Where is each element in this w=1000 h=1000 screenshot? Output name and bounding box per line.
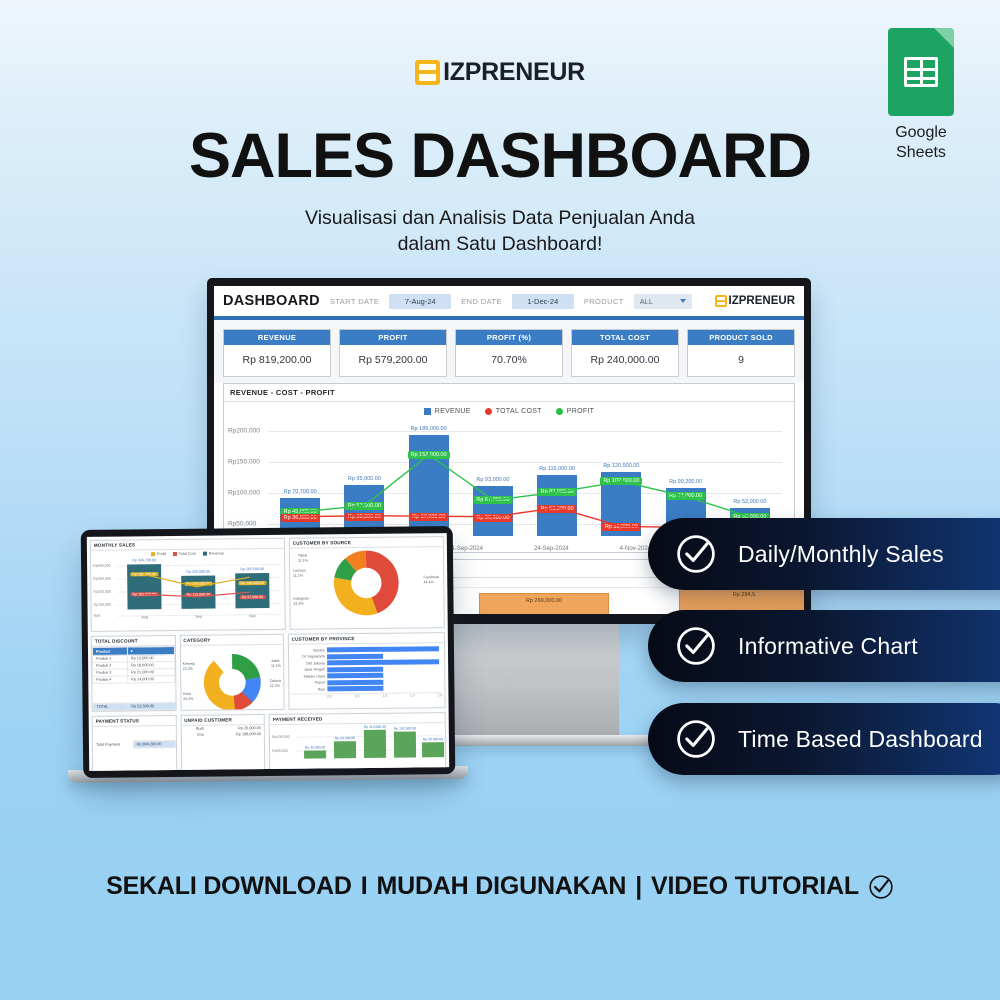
slice-label-kemeja: Kemeja22.2% bbox=[183, 662, 195, 671]
table-total-row: TOTALRp 52,500.00 bbox=[93, 702, 175, 710]
slice-label-kaos: Kaos44.4% bbox=[183, 692, 193, 701]
kpi-label: PRODUCT SOLD bbox=[688, 330, 794, 345]
profit-value-label: Rp 74,000.00 bbox=[666, 492, 705, 500]
slice-label-tiktok: Tiktok11.1% bbox=[298, 554, 308, 563]
banner-part-1: SEKALI DOWNLOAD bbox=[106, 872, 352, 901]
bar: Rp 93,000.00Rp 67,000.00Rp 36,000.00 bbox=[473, 486, 513, 536]
bar-value-label: Rp 52,000.00 bbox=[733, 499, 766, 505]
payment-status-panel: PAYMENT STATUS Total Payment Rp 894,200.… bbox=[92, 715, 177, 771]
kpi-card-profit: PROFIT Rp 579,200.00 bbox=[339, 329, 447, 377]
feature-label: Daily/Monthly Sales bbox=[738, 541, 944, 568]
bar: Rp 120,500.00Rp 102,000.00Rp 18,000.00 bbox=[601, 472, 641, 536]
end-date-input[interactable]: 1-Dec-24 bbox=[512, 294, 574, 309]
y-tick: Rp300,000 bbox=[93, 577, 111, 581]
slice-label-celana: Jaket11.1% bbox=[271, 659, 281, 668]
banner-separator-2: | bbox=[635, 872, 642, 901]
kpi-value: Rp 240,000.00 bbox=[572, 345, 678, 376]
bar-row: Banten bbox=[291, 646, 442, 653]
cost-value-label: Rp 38,000.00 bbox=[345, 513, 384, 521]
circle-check-icon bbox=[674, 624, 718, 668]
profit-value-label: Rp 57,000.00 bbox=[345, 502, 384, 510]
slice-label-facebook: Facebook44.4% bbox=[423, 575, 439, 585]
table-row: Ima Rp 188,000.00 bbox=[181, 731, 264, 738]
payment-received-panel: PAYMENT RECEIVED Rp100,000 Rp50,000 Rp 3… bbox=[269, 712, 446, 770]
legend-item-total-cost: TOTAL COST bbox=[485, 408, 542, 415]
customer-by-province-chart: Banten DI Yogyakarta DKI Jakarta Jawa Te… bbox=[289, 643, 445, 698]
legend-item-revenue: REVENUE bbox=[424, 408, 471, 415]
sheet-grid-glyph bbox=[904, 57, 938, 87]
legend-item-total-cost: Total Cost bbox=[173, 552, 196, 556]
banner-part-2: MUDAH DIGUNAKAN bbox=[376, 872, 626, 901]
kpi-value: 70.70% bbox=[456, 345, 562, 376]
laptop-device: MONTHLY SALES Profit Total Cost Revenue … bbox=[81, 526, 456, 778]
payment-received-chart: Rp100,000 Rp50,000 Rp 30,000.00 Rp 64,50… bbox=[270, 723, 445, 765]
kpi-value: Rp 819,200.00 bbox=[224, 345, 330, 376]
start-date-input[interactable]: 7-Aug-24 bbox=[389, 294, 451, 309]
monthly-sales-panel: MONTHLY SALES Profit Total Cost Revenue … bbox=[90, 538, 286, 632]
circle-check-icon bbox=[674, 532, 718, 576]
y-tick: Rp200,000 bbox=[93, 590, 111, 594]
customer-by-province-panel: CUSTOMER BY PROVINCE Banten DI Yogyakart… bbox=[288, 632, 446, 710]
feature-pill-daily-monthly-sales[interactable]: Daily/Monthly Sales bbox=[648, 518, 1000, 590]
page-subtitle: Visualisasi dan Analisis Data Penjualan … bbox=[0, 205, 1000, 258]
legend-item-profit: Profit bbox=[151, 552, 166, 556]
profit-value-label: Rp 82,000.00 bbox=[538, 488, 577, 496]
bar-value-label: Rp 70,700.00 bbox=[284, 489, 317, 495]
bar-row: Riau bbox=[291, 685, 442, 692]
bizpreneur-logo: IZPRENEUR bbox=[0, 58, 1000, 87]
legend-item-revenue: Revenue bbox=[203, 551, 224, 555]
bar-value-label: Rp 189,000.00 bbox=[411, 426, 447, 432]
x-axis: 0.0 0.5 1.0 1.5 2.0 bbox=[291, 692, 442, 699]
end-date-label: END DATE bbox=[461, 297, 502, 306]
sales-person-bar: Rp 269,000.00 bbox=[479, 593, 609, 614]
profit-value-label: Rp 67,000.00 bbox=[473, 496, 512, 504]
google-sheets-icon bbox=[888, 28, 954, 116]
bar-aug: Rp 345,700.00 Rp 182,000.00 Rp 103,000.0… bbox=[127, 564, 161, 609]
bar-row: DKI Jakarta bbox=[291, 659, 442, 666]
bizpreneur-logo-text: IZPRENEUR bbox=[443, 58, 585, 87]
kpi-value: Rp 579,200.00 bbox=[340, 345, 446, 376]
bar-row: DI Yogyakarta bbox=[291, 653, 442, 660]
bar-sep: Rp 255,000.00 Rp 140,000.00 Rp 115,000.0… bbox=[181, 576, 215, 609]
bar: Rp 189,000.00Rp 152,000.00Rp 37,000.00 bbox=[409, 435, 449, 536]
bar-value-label: Rp 115,000.00 bbox=[539, 466, 575, 472]
kpi-value: 9 bbox=[688, 345, 794, 376]
y-tick: Rp0 bbox=[94, 614, 101, 618]
cost-value-label: Rp 18,000.00 bbox=[602, 523, 641, 531]
customer-by-source-panel: CUSTOMER BY SOURCE Facebook44.4% Instagr… bbox=[289, 536, 445, 630]
y-tick: Rp150,000 bbox=[228, 459, 260, 466]
feature-label: Time Based Dashboard bbox=[738, 726, 983, 753]
feature-pill-informative-chart[interactable]: Informative Chart bbox=[648, 610, 1000, 682]
kpi-card-total-cost: TOTAL COST Rp 240,000.00 bbox=[571, 329, 679, 377]
cost-value-label: Rp 36,000.00 bbox=[473, 514, 512, 522]
x-tick: 24-Sep-2024 bbox=[534, 546, 569, 552]
y-tick: Rp100,000 bbox=[228, 490, 260, 497]
bar-nov: Rp 265,500.00 Rp 168,000.00 Rp 97,000.00 bbox=[235, 573, 269, 608]
category-panel: CATEGORY Kemeja22.2% Jaket11.1% Celana22… bbox=[179, 634, 284, 711]
y-tick: Rp200,000 bbox=[228, 428, 260, 435]
bar-value-label: Rp 120,500.00 bbox=[603, 463, 639, 469]
kpi-label: TOTAL COST bbox=[572, 330, 678, 345]
page-title: SALES DASHBOARD bbox=[0, 120, 1000, 192]
x-tick: Aug bbox=[141, 615, 148, 619]
x-tick: 1-Sep-2024 bbox=[452, 546, 483, 552]
page-fold bbox=[934, 28, 954, 48]
customer-by-source-chart: Facebook44.4% Instagram33.3% Lainnya11.1… bbox=[290, 547, 444, 619]
y-tick: Rp100,000 bbox=[272, 735, 290, 739]
bizpreneur-b-mark bbox=[415, 60, 440, 85]
bottom-banner: SEKALI DOWNLOAD I MUDAH DIGUNAKAN | VIDE… bbox=[0, 872, 1000, 901]
payment-bar: Rp 30,000.00 bbox=[304, 750, 326, 758]
bar-row: Jawa Tengah bbox=[291, 666, 442, 673]
product-label: PRODUCT bbox=[584, 297, 624, 306]
monthly-sales-chart: Rp400,000 Rp300,000 Rp200,000 Rp100,000 … bbox=[91, 556, 285, 620]
slice-label-jaket: Celana22.2% bbox=[270, 679, 281, 688]
product-select[interactable]: ALL bbox=[634, 294, 692, 309]
start-date-label: START DATE bbox=[330, 297, 379, 306]
payment-status-table: Total Payment Rp 894,200.00 bbox=[93, 740, 176, 749]
bizpreneur-b-mark-small bbox=[715, 295, 727, 307]
x-tick: Nov bbox=[249, 614, 256, 618]
feature-label: Informative Chart bbox=[738, 633, 918, 660]
payment-bar: Rp 113,000.00 bbox=[364, 730, 386, 758]
profit-value-label: Rp 102,000.00 bbox=[600, 477, 642, 485]
y-tick: Rp50,000 bbox=[228, 521, 256, 528]
bar-row: Maluku Utara bbox=[291, 672, 442, 679]
bar-value-label: Rp 95,000.00 bbox=[348, 476, 381, 482]
x-tick: 4-Nov-2024 bbox=[620, 546, 651, 552]
kpi-card-profit-pct: PROFIT (%) 70.70% bbox=[455, 329, 563, 377]
subtitle-line-1: Visualisasi dan Analisis Data Penjualan … bbox=[0, 205, 1000, 231]
unpaid-customer-panel: UNPAID CUSTOMER Budi Rp 26,000.00 Ima Rp… bbox=[180, 714, 265, 771]
bar: Rp 115,000.00Rp 82,000.00Rp 53,000.00 bbox=[537, 475, 577, 537]
cost-value-label: Rp 37,000.00 bbox=[409, 513, 448, 521]
y-tick: Rp100,000 bbox=[93, 603, 111, 607]
y-tick: Rp50,000 bbox=[272, 749, 288, 753]
legend-item-profit: PROFIT bbox=[556, 408, 594, 415]
payment-bar: Rp 58,000.00 bbox=[422, 742, 444, 757]
product-select-value: ALL bbox=[640, 297, 653, 306]
bar-value-label: Rp 93,000.00 bbox=[476, 477, 509, 483]
dashboard-title: DASHBOARD bbox=[223, 293, 320, 309]
kpi-label: REVENUE bbox=[224, 330, 330, 345]
kpi-label: PROFIT (%) bbox=[456, 330, 562, 345]
cost-value-label: Rp 53,000.00 bbox=[538, 505, 577, 513]
kpi-label: PROFIT bbox=[340, 330, 446, 345]
x-tick: Sep bbox=[195, 615, 202, 619]
dashboard-brand-text: IZPRENEUR bbox=[729, 295, 795, 307]
unpaid-customer-table: Budi Rp 26,000.00 Ima Rp 188,000.00 bbox=[181, 725, 264, 738]
y-tick: Rp400,000 bbox=[93, 564, 111, 568]
bar-row: Papua bbox=[291, 679, 442, 686]
kpi-row: REVENUE Rp 819,200.00 PROFIT Rp 579,200.… bbox=[214, 320, 804, 383]
kpi-card-revenue: REVENUE Rp 819,200.00 bbox=[223, 329, 331, 377]
bar-value-label: Rp 90,200.00 bbox=[669, 479, 702, 485]
payment-bar: Rp 64,500.00 bbox=[334, 741, 356, 758]
table-row: Total Payment Rp 894,200.00 bbox=[93, 740, 175, 748]
circle-check-icon bbox=[674, 717, 718, 761]
dashboard-toolbar: DASHBOARD START DATE 7-Aug-24 END DATE 1… bbox=[214, 286, 804, 316]
banner-separator-1: I bbox=[361, 872, 368, 901]
total-discount-panel: TOTAL DISCOUNT Product▾ Produk 1Rp 19,50… bbox=[91, 635, 176, 712]
laptop-screen: MONTHLY SALES Profit Total Cost Revenue … bbox=[87, 533, 449, 771]
feature-pill-time-based-dashboard[interactable]: Time Based Dashboard bbox=[648, 703, 1000, 775]
subtitle-line-2: dalam Satu Dashboard! bbox=[0, 231, 1000, 257]
dashboard-brand-logo: IZPRENEUR bbox=[715, 295, 795, 307]
banner-part-3: VIDEO TUTORIAL bbox=[651, 872, 859, 901]
chevron-down-icon bbox=[680, 299, 686, 303]
chart-legend: REVENUE TOTAL COST PROFIT bbox=[224, 402, 794, 417]
payment-bar: Rp 102,500.00 bbox=[394, 731, 416, 757]
total-discount-table: Product▾ Produk 1Rp 19,500.00 Produk 2Rp… bbox=[92, 646, 175, 711]
cost-value-label: Rp 36,000.00 bbox=[281, 514, 320, 522]
slice-label-instagram: Instagram33.3% bbox=[293, 597, 309, 607]
panel-title: REVENUE - COST - PROFIT bbox=[224, 384, 794, 402]
slice-label-lainnya: Lainnya11.1% bbox=[293, 569, 306, 578]
circle-check-icon bbox=[868, 874, 894, 900]
profit-value-label: Rp 152,000.00 bbox=[408, 451, 450, 459]
panel-title: PAYMENT STATUS bbox=[93, 716, 176, 727]
category-chart: Kemeja22.2% Jaket11.1% Celana22.2% Kaos4… bbox=[180, 645, 283, 711]
kpi-card-product-sold: PRODUCT SOLD 9 bbox=[687, 329, 795, 377]
